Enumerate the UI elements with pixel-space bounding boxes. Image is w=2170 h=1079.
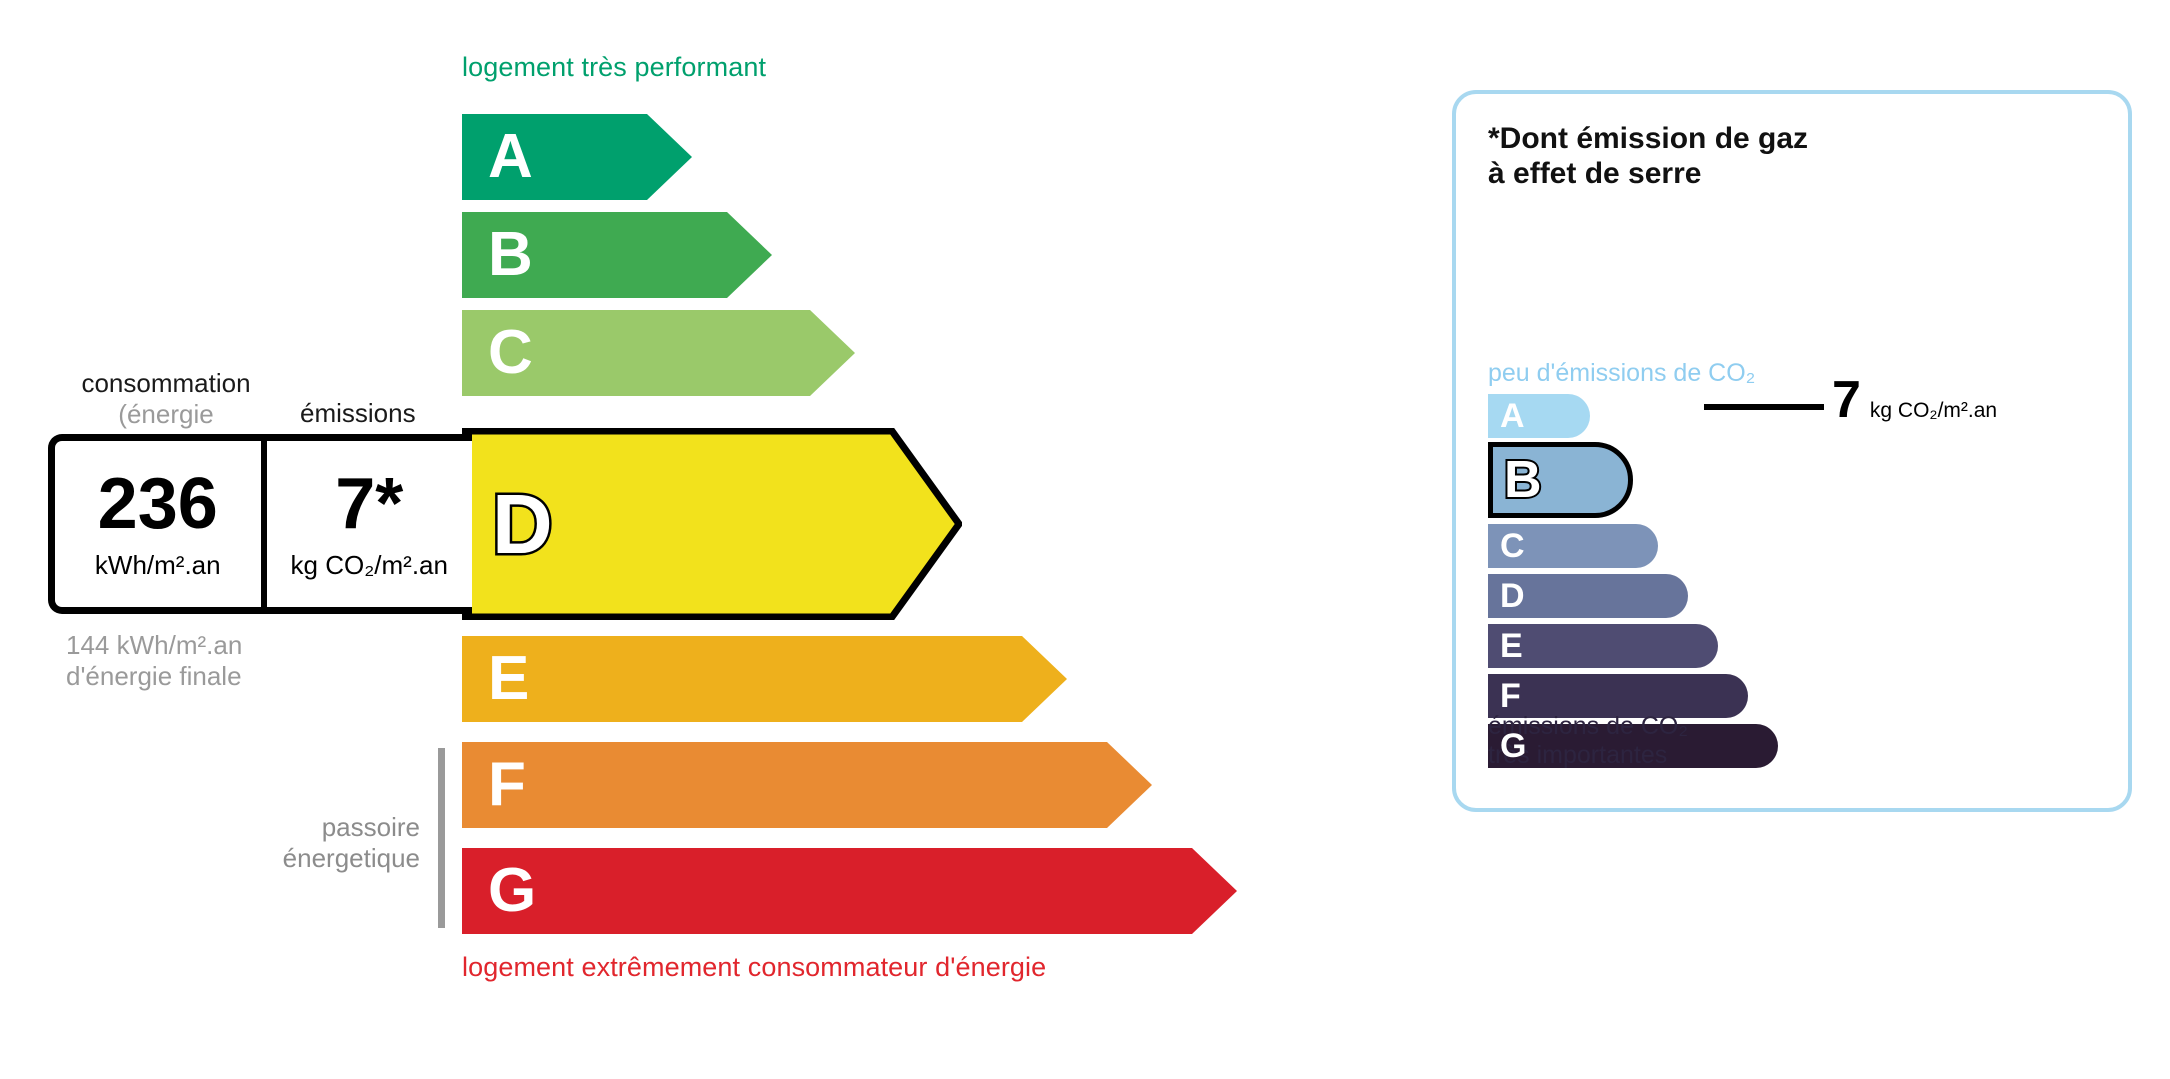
energy-top-caption: logement très performant <box>462 52 766 83</box>
energy-class-row-b[interactable]: B <box>462 212 772 298</box>
energy-arrow-f-shape <box>462 742 1152 828</box>
co2-class-letter-b: B <box>1504 442 1633 518</box>
consumption-value: 236 <box>98 468 218 540</box>
co2-class-row-g[interactable]: G <box>1488 724 1778 768</box>
final-energy-line1: 144 kWh/m².an <box>66 630 242 661</box>
co2-class-row-e[interactable]: E <box>1488 624 1718 668</box>
emission-value: 7* <box>335 468 403 540</box>
energy-class-row-d-selected[interactable]: D <box>462 428 962 620</box>
passoire-line1: passoire <box>200 812 420 843</box>
emission-value-cell: 7* kg CO₂/m².an <box>267 441 473 607</box>
energy-arrow-g-shape <box>462 848 1237 934</box>
energy-class-row-f[interactable]: F <box>462 742 1152 828</box>
consumption-value-cell: 236 kWh/m².an <box>55 441 267 607</box>
co2-title-line2: à effet de serre <box>1488 157 1808 192</box>
co2-class-row-c[interactable]: C <box>1488 524 1658 568</box>
co2-class-row-d[interactable]: D <box>1488 574 1688 618</box>
energy-class-row-e[interactable]: E <box>462 636 1067 722</box>
co2-class-letter-c: C <box>1500 524 1658 568</box>
co2-value-unit: kg CO₂/m².an <box>1870 399 1997 423</box>
final-energy-line2: d'énergie finale <box>66 661 242 692</box>
co2-class-letter-a: A <box>1500 394 1590 438</box>
co2-class-letter-g: G <box>1500 724 1778 768</box>
value-box: 236 kWh/m².an 7* kg CO₂/m².an <box>48 434 472 614</box>
co2-class-letter-d: D <box>1500 574 1688 618</box>
passoire-line2: énergetique <box>200 843 420 874</box>
final-energy-note: 144 kWh/m².an d'énergie finale <box>66 630 242 691</box>
energy-arrow-e-shape <box>462 636 1067 722</box>
energy-class-letter-d: D <box>492 482 553 566</box>
energy-class-letter-f: F <box>488 754 526 816</box>
energy-class-letter-g: G <box>488 860 536 922</box>
dpe-diagram: logement très performant A B <box>0 0 2170 1079</box>
co2-value-readout: 7 kg CO₂/m².an <box>1832 374 1997 426</box>
co2-value-number: 7 <box>1832 374 1861 426</box>
co2-top-caption: peu d'émissions de CO₂ <box>1488 359 1755 388</box>
co2-class-row-b-selected[interactable]: B <box>1488 442 1633 518</box>
co2-class-row-a[interactable]: A <box>1488 394 1590 438</box>
passoire-marker-bar <box>438 748 445 928</box>
emission-label: émissions <box>300 398 416 429</box>
emission-unit: kg CO₂/m².an <box>291 550 448 581</box>
energy-class-letter-e: E <box>488 648 529 710</box>
co2-title-line1: *Dont émission de gaz <box>1488 122 1808 157</box>
consumption-unit: kWh/m².an <box>95 550 221 581</box>
consumption-label-main: consommation <box>81 368 250 398</box>
energy-class-letter-a: A <box>488 126 533 188</box>
energy-class-row-a[interactable]: A <box>462 114 692 200</box>
energy-class-row-c[interactable]: C <box>462 310 855 396</box>
energy-class-row-g[interactable]: G <box>462 848 1237 934</box>
co2-panel-title: *Dont émission de gaz à effet de serre <box>1488 122 1808 192</box>
co2-class-row-f[interactable]: F <box>1488 674 1748 718</box>
energy-class-letter-b: B <box>488 224 533 286</box>
co2-leader-line <box>1704 404 1824 410</box>
energy-performance-scale: logement très performant A B <box>0 0 1430 1079</box>
co2-class-letter-e: E <box>1500 624 1718 668</box>
co2-class-letter-f: F <box>1500 674 1748 718</box>
passoire-label: passoire énergetique <box>200 812 420 873</box>
energy-class-letter-c: C <box>488 322 533 384</box>
co2-emissions-panel: *Dont émission de gaz à effet de serre p… <box>1452 90 2132 812</box>
energy-bottom-caption: logement extrêmement consommateur d'éner… <box>462 952 1046 983</box>
